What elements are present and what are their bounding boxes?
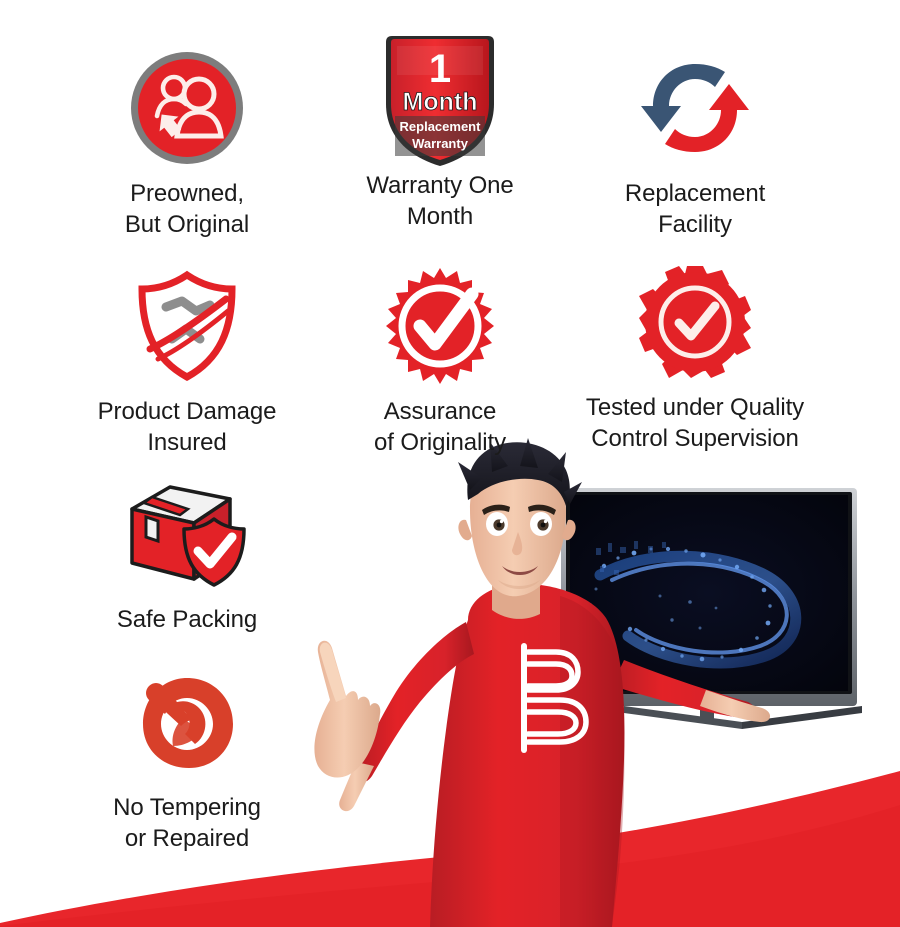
warranty-number: 1: [429, 47, 451, 91]
wrench-no-tamper-icon: [52, 658, 322, 786]
feature-caption: Preowned, But Original: [52, 178, 322, 240]
feature-warranty: 1 Month Replacement Warranty Warranty On…: [305, 36, 575, 232]
feature-caption: Assurance of Originality: [305, 396, 575, 458]
starburst-check-seal-icon: [305, 262, 575, 390]
feature-packing: Safe Packing: [52, 470, 322, 635]
svg-text:Warranty: Warranty: [412, 136, 469, 151]
feature-caption: No Tempering or Repaired: [52, 792, 322, 854]
feature-caption: Safe Packing: [52, 604, 322, 635]
feature-caption: Warranty One Month: [305, 170, 575, 232]
svg-text:Replacement: Replacement: [400, 119, 482, 134]
feature-caption: Tested under Quality Control Supervision: [560, 392, 830, 454]
feature-replacement: Replacement Facility: [560, 44, 830, 240]
feature-caption: Replacement Facility: [560, 178, 830, 240]
svg-text:Month: Month: [403, 88, 478, 116]
box-with-shield-check-icon: [52, 470, 322, 598]
two-curved-arrows-exchange-icon: [560, 44, 830, 172]
feature-assurance: Assurance of Originality: [305, 262, 575, 458]
feature-grid: Preowned, But Original 1: [0, 0, 900, 860]
promotional-poster: Preowned, But Original 1: [0, 0, 900, 927]
feature-tempering: No Tempering or Repaired: [52, 658, 322, 854]
gear-edge-check-seal-icon: [560, 258, 830, 386]
cracked-shield-icon: [52, 262, 322, 390]
warranty-shield-badge-icon: 1 Month Replacement Warranty: [305, 36, 575, 164]
feature-tested: Tested under Quality Control Supervision: [560, 258, 830, 454]
feature-preowned: Preowned, But Original: [52, 44, 322, 240]
feature-caption: Product Damage Insured: [52, 396, 322, 458]
feature-damage: Product Damage Insured: [52, 262, 322, 458]
two-users-transfer-icon: [52, 44, 322, 172]
